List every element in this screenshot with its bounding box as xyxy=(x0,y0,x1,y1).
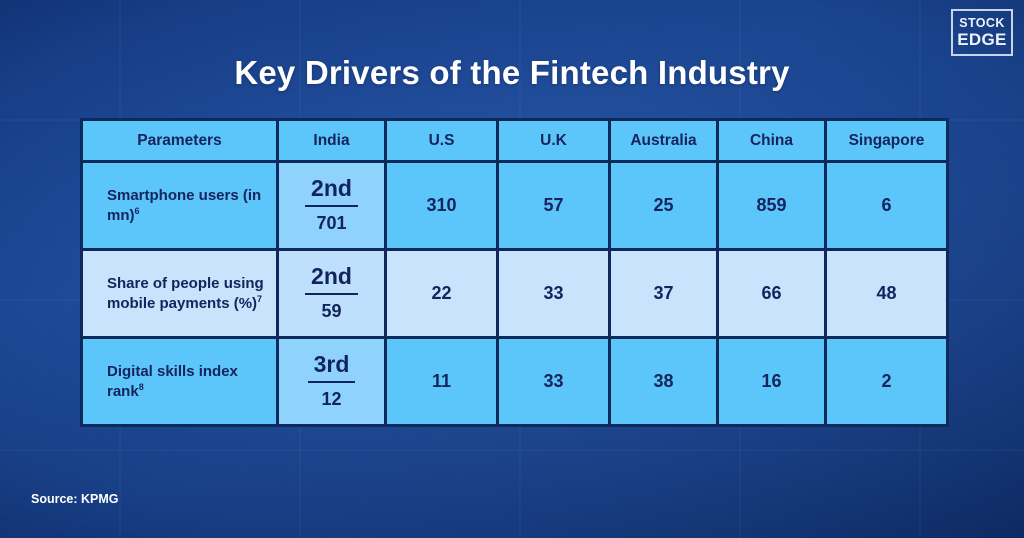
logo-line-1: STOCK xyxy=(959,17,1005,30)
source-note: Source: KPMG xyxy=(31,492,119,506)
india-rank-stack: 3rd 12 xyxy=(308,353,356,408)
row-label-smartphone-users: Smartphone users (in mn)6 xyxy=(82,162,278,250)
cell-india-mobile-payments: 2nd 59 xyxy=(278,250,386,338)
column-header-china: China xyxy=(718,120,826,162)
cell-us-smartphone-users: 310 xyxy=(386,162,498,250)
cell-singapore-smartphone-users: 6 xyxy=(826,162,948,250)
table-row: Digital skills index rank8 3rd 12 11 33 … xyxy=(82,338,948,426)
table-header-row: Parameters India U.S U.K Australia China… xyxy=(82,120,948,162)
india-value: 701 xyxy=(305,207,358,232)
cell-australia-mobile-payments: 37 xyxy=(610,250,718,338)
row-label-text: Share of people using mobile payments (%… xyxy=(107,275,264,312)
cell-us-mobile-payments: 22 xyxy=(386,250,498,338)
india-value: 12 xyxy=(308,383,356,408)
india-rank: 2nd xyxy=(305,177,358,207)
column-header-australia: Australia xyxy=(610,120,718,162)
column-header-india: India xyxy=(278,120,386,162)
row-label-text: Digital skills index rank xyxy=(107,363,238,400)
key-drivers-table-wrapper: Parameters India U.S U.K Australia China… xyxy=(80,118,946,427)
footnote-marker: 7 xyxy=(257,294,262,304)
cell-china-mobile-payments: 66 xyxy=(718,250,826,338)
cell-china-smartphone-users: 859 xyxy=(718,162,826,250)
cell-uk-smartphone-users: 57 xyxy=(498,162,610,250)
cell-india-digital-skills-index: 3rd 12 xyxy=(278,338,386,426)
india-rank-stack: 2nd 701 xyxy=(305,177,358,232)
india-rank: 3rd xyxy=(308,353,356,383)
column-header-us: U.S xyxy=(386,120,498,162)
column-header-parameters: Parameters xyxy=(82,120,278,162)
row-label-mobile-payments: Share of people using mobile payments (%… xyxy=(82,250,278,338)
logo-line-2: EDGE xyxy=(957,31,1006,48)
cell-singapore-mobile-payments: 48 xyxy=(826,250,948,338)
column-header-uk: U.K xyxy=(498,120,610,162)
footnote-marker: 6 xyxy=(135,206,140,216)
cell-uk-digital-skills-index: 33 xyxy=(498,338,610,426)
table-row: Share of people using mobile payments (%… xyxy=(82,250,948,338)
row-label-digital-skills-index: Digital skills index rank8 xyxy=(82,338,278,426)
cell-china-digital-skills-index: 16 xyxy=(718,338,826,426)
column-header-singapore: Singapore xyxy=(826,120,948,162)
cell-singapore-digital-skills-index: 2 xyxy=(826,338,948,426)
india-rank: 2nd xyxy=(305,265,358,295)
india-value: 59 xyxy=(305,295,358,320)
cell-uk-mobile-payments: 33 xyxy=(498,250,610,338)
page-title: Key Drivers of the Fintech Industry xyxy=(0,54,1024,92)
cell-india-smartphone-users: 2nd 701 xyxy=(278,162,386,250)
cell-australia-digital-skills-index: 38 xyxy=(610,338,718,426)
table-row: Smartphone users (in mn)6 2nd 701 310 57… xyxy=(82,162,948,250)
cell-us-digital-skills-index: 11 xyxy=(386,338,498,426)
stockedge-logo: STOCK EDGE xyxy=(951,9,1013,56)
key-drivers-table: Parameters India U.S U.K Australia China… xyxy=(80,118,949,427)
cell-australia-smartphone-users: 25 xyxy=(610,162,718,250)
row-label-text: Smartphone users (in mn) xyxy=(107,187,261,224)
footnote-marker: 8 xyxy=(139,382,144,392)
india-rank-stack: 2nd 59 xyxy=(305,265,358,320)
